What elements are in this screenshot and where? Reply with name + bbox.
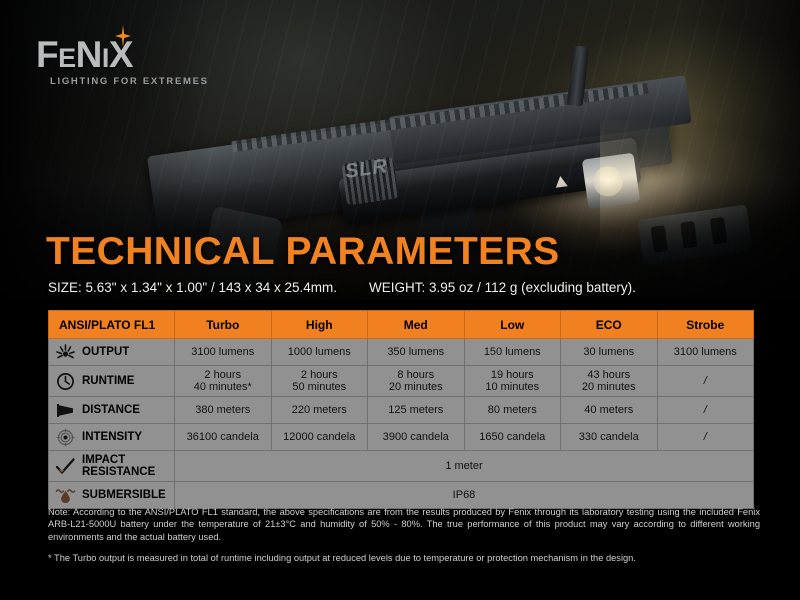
cell-output-eco: 30 lumens: [561, 339, 658, 366]
table-row: RUNTIME 2 hours 40 minutes* 2 hours 50 m…: [49, 366, 754, 397]
product-spec-page: SLR FENIX LIGHTING FOR EXTREMES TECHNICA…: [0, 0, 800, 600]
row-label-text: INTENSITY: [82, 431, 142, 443]
row-label-impact-resistance: IMPACT RESISTANCE: [49, 451, 175, 482]
water-drop-icon: [55, 486, 76, 505]
cell-intensity-low: 1650 candela: [464, 424, 561, 451]
row-label-text: RUNTIME: [82, 375, 134, 387]
specifications-table-wrapper: ANSI/PLATO FL1 Turbo High Med Low ECO St…: [48, 310, 753, 509]
cell-runtime-strobe: /: [657, 366, 754, 397]
cell-runtime-high: 2 hours 50 minutes: [271, 366, 368, 397]
cell-submersible-value: IP68: [175, 482, 754, 509]
cell-distance-high: 220 meters: [271, 397, 368, 424]
cell-distance-low: 80 meters: [464, 397, 561, 424]
column-header-med: Med: [368, 311, 465, 339]
cell-impact-resistance-value: 1 meter: [175, 451, 754, 482]
size-label: SIZE: 5.63" x 1.34" x 1.00" / 143 x 34 x…: [48, 280, 337, 295]
row-label-distance: DISTANCE: [49, 397, 175, 424]
table-row: OUTPUT 3100 lumens 1000 lumens 350 lumen…: [49, 339, 754, 366]
cell-intensity-med: 3900 candela: [368, 424, 465, 451]
page-title: TECHNICAL PARAMETERS: [46, 232, 560, 271]
cell-intensity-turbo: 36100 candela: [175, 424, 272, 451]
column-header-strobe: Strobe: [657, 311, 754, 339]
table-row: INTENSITY 36100 candela 12000 candela 39…: [49, 424, 754, 451]
cell-distance-eco: 40 meters: [561, 397, 658, 424]
table-row: IMPACT RESISTANCE 1 meter: [49, 451, 754, 482]
cell-output-high: 1000 lumens: [271, 339, 368, 366]
starburst-icon: [55, 343, 76, 362]
column-header-turbo: Turbo: [175, 311, 272, 339]
column-header-low: Low: [464, 311, 561, 339]
footnotes: Note: According to the ANSI/PLATO FL1 st…: [48, 506, 760, 564]
cell-intensity-eco: 330 candela: [561, 424, 658, 451]
cell-runtime-turbo: 2 hours 40 minutes*: [175, 366, 272, 397]
fenix-logo: FENIX LIGHTING FOR EXTREMES: [36, 36, 209, 87]
cell-output-strobe: 3100 lumens: [657, 339, 754, 366]
note-asterisk: * The Turbo output is measured in total …: [48, 552, 760, 564]
table-row: SUBMERSIBLE IP68: [49, 482, 754, 509]
row-label-runtime: RUNTIME: [49, 366, 175, 397]
clock-icon: [55, 372, 76, 391]
specifications-table: ANSI/PLATO FL1 Turbo High Med Low ECO St…: [48, 310, 754, 509]
row-label-intensity: INTENSITY: [49, 424, 175, 451]
column-header-standard: ANSI/PLATO FL1: [49, 311, 175, 339]
weight-label: WEIGHT: 3.95 oz / 112 g (excluding batte…: [369, 280, 636, 295]
cell-runtime-eco: 43 hours 20 minutes: [561, 366, 658, 397]
row-label-text: SUBMERSIBLE: [82, 489, 166, 501]
checkmark-icon: [55, 457, 76, 476]
cell-intensity-high: 12000 candela: [271, 424, 368, 451]
beam-cone-icon: [55, 401, 76, 420]
cell-runtime-low: 19 hours 10 minutes: [464, 366, 561, 397]
column-header-high: High: [271, 311, 368, 339]
table-row: DISTANCE 380 meters 220 meters 125 meter…: [49, 397, 754, 424]
cell-distance-strobe: /: [657, 397, 754, 424]
row-label-output: OUTPUT: [49, 339, 175, 366]
cell-output-turbo: 3100 lumens: [175, 339, 272, 366]
cell-output-low: 150 lumens: [464, 339, 561, 366]
column-header-eco: ECO: [561, 311, 658, 339]
cell-intensity-strobe: /: [657, 424, 754, 451]
target-icon: [55, 428, 76, 447]
cell-runtime-med: 8 hours 20 minutes: [368, 366, 465, 397]
row-label-text: DISTANCE: [82, 404, 140, 416]
fenix-tagline: LIGHTING FOR EXTREMES: [50, 76, 209, 87]
row-label-text: IMPACT RESISTANCE: [82, 454, 155, 478]
note-main: Note: According to the ANSI/PLATO FL1 st…: [48, 506, 760, 543]
cell-distance-turbo: 380 meters: [175, 397, 272, 424]
dimensions-line: SIZE: 5.63" x 1.34" x 1.00" / 143 x 34 x…: [48, 280, 636, 295]
table-header-row: ANSI/PLATO FL1 Turbo High Med Low ECO St…: [49, 311, 754, 339]
row-label-submersible: SUBMERSIBLE: [49, 482, 175, 509]
cell-output-med: 350 lumens: [368, 339, 465, 366]
row-label-text: OUTPUT: [82, 346, 129, 358]
cell-distance-med: 125 meters: [368, 397, 465, 424]
